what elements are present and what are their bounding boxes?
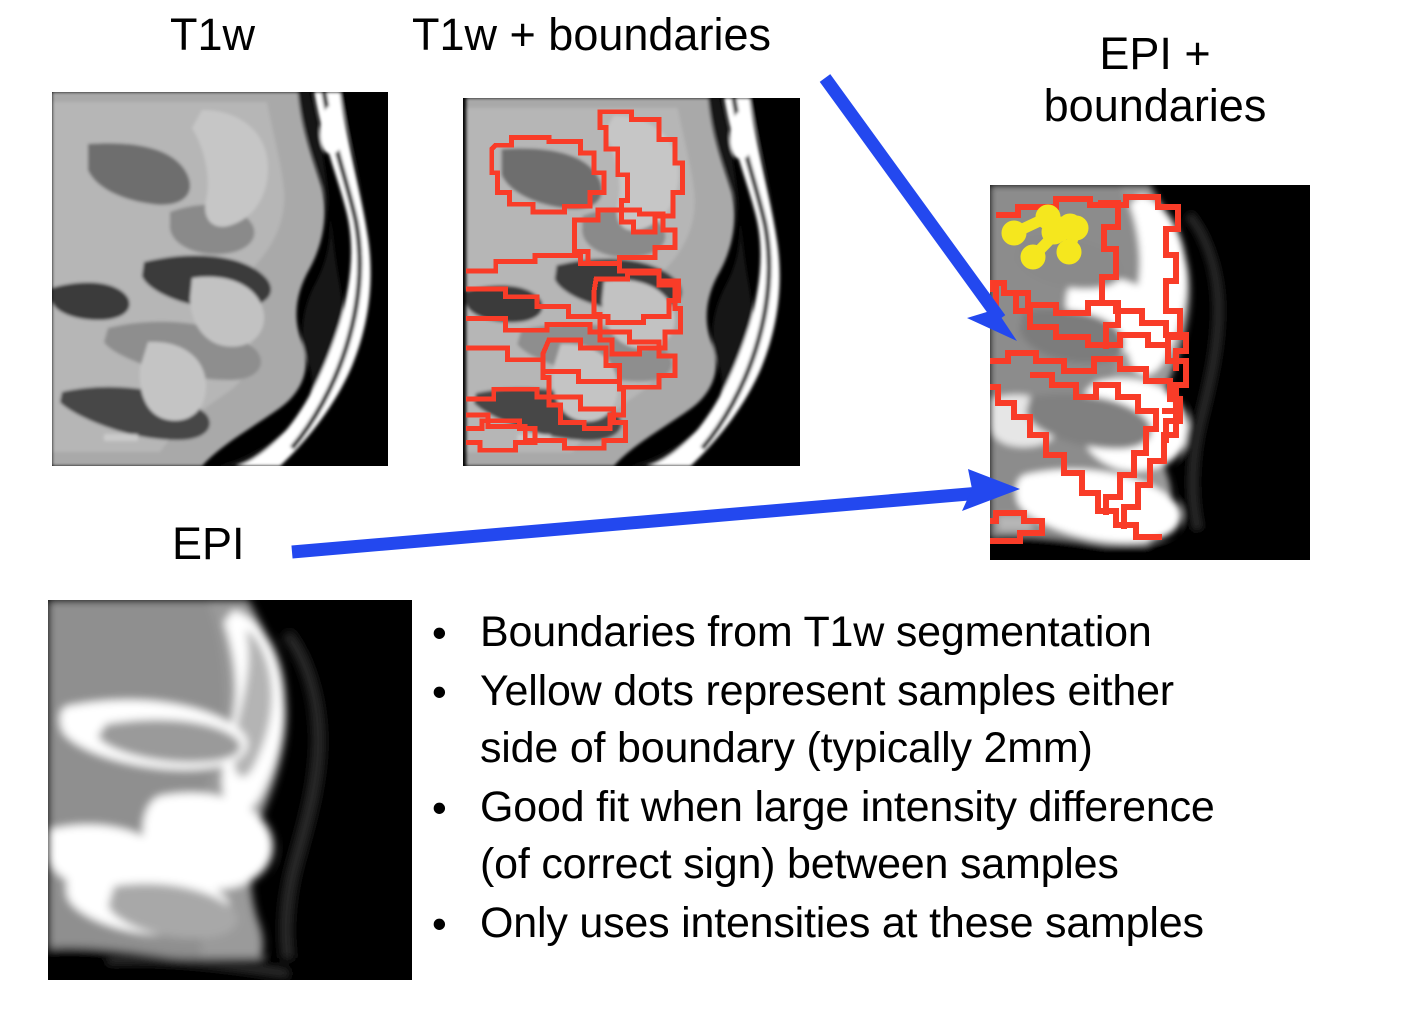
mri-image-epi xyxy=(48,600,412,980)
bullet-text: Boundaries from T1w segmentation xyxy=(480,604,1402,661)
list-item: • Good fit when large intensity differen… xyxy=(424,779,1402,893)
bullet-marker-icon: • xyxy=(424,895,480,952)
arrow-t1w-boundaries-to-epi xyxy=(825,78,1017,341)
bullet-list: • Boundaries from T1w segmentation • Yel… xyxy=(424,604,1402,954)
bullet-marker-icon: • xyxy=(424,779,480,836)
list-item: • Boundaries from T1w segmentation xyxy=(424,604,1402,661)
panel-label-epi-boundaries-line1: EPI + xyxy=(1010,28,1300,80)
arrow-epi-to-epi-boundaries xyxy=(292,469,1020,552)
panel-label-t1w-boundaries: T1w + boundaries xyxy=(412,9,771,61)
mri-image-t1w xyxy=(52,92,388,466)
mri-image-t1w-with-boundaries xyxy=(463,98,800,466)
panel-label-t1w: T1w xyxy=(170,9,255,61)
panel-label-epi-boundaries-line2: boundaries xyxy=(1010,80,1300,132)
bullet-marker-icon: • xyxy=(424,604,480,661)
list-item: • Only uses intensities at these samples xyxy=(424,895,1402,952)
panel-label-epi-boundaries: EPI + boundaries xyxy=(1010,28,1300,132)
bullet-marker-icon: • xyxy=(424,663,480,720)
bullet-text: Only uses intensities at these samples xyxy=(480,895,1402,952)
panel-label-epi: EPI xyxy=(172,518,245,570)
bullet-text: Good fit when large intensity difference… xyxy=(480,779,1402,893)
list-item: • Yellow dots represent samples either s… xyxy=(424,663,1402,777)
bullet-text: Yellow dots represent samples either sid… xyxy=(480,663,1402,777)
mri-image-epi-with-boundaries xyxy=(990,185,1310,560)
slide-canvas: T1w T1w + boundaries EPI + boundaries EP… xyxy=(0,0,1414,1014)
